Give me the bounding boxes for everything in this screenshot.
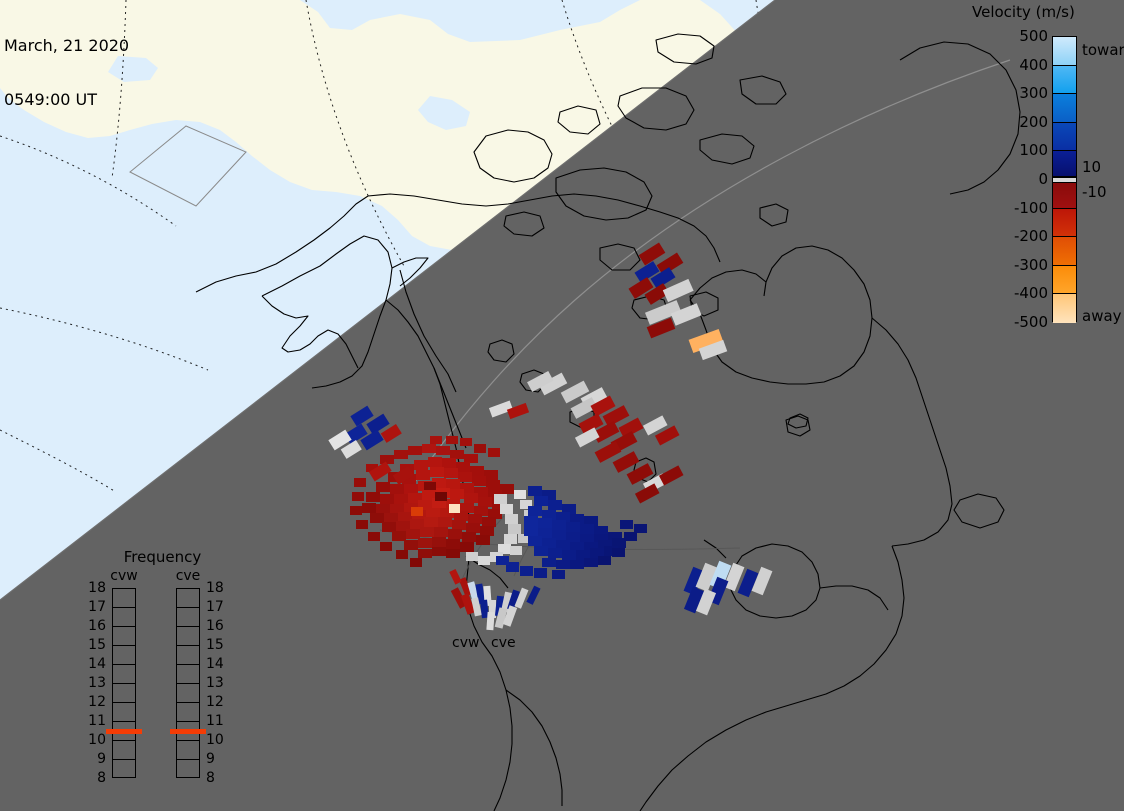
- colorbar-zero-upper-label: 10: [1082, 158, 1101, 176]
- frequency-tick-cvw-8: 8: [84, 770, 106, 786]
- colorbar-band-500-to-400: [1053, 37, 1076, 66]
- frequency-legend: Frequency cvw18171615141312111098cve1817…: [80, 548, 245, 780]
- frequency-segment-16: [113, 627, 135, 646]
- frequency-tick-cvw-17: 17: [84, 599, 106, 615]
- colorbar-gradient-bar: [1052, 36, 1077, 322]
- frequency-tick-cvw-10: 10: [84, 732, 106, 748]
- frequency-tick-cve-17: 17: [206, 599, 228, 615]
- colorbar-away-label: away: [1082, 307, 1122, 325]
- colorbar-tick--300: -300: [1014, 256, 1048, 274]
- colorbar-band--300-to--400: [1053, 266, 1076, 295]
- frequency-tick-cvw-13: 13: [84, 675, 106, 691]
- colorbar-tick--100: -100: [1014, 199, 1048, 217]
- timestamp-date: March, 21 2020: [4, 37, 129, 55]
- frequency-scale-cve: [176, 588, 200, 778]
- frequency-segment-14: [113, 665, 135, 684]
- frequency-segment-10: [177, 741, 199, 760]
- colorbar-band-300-to-200: [1053, 94, 1076, 123]
- colorbar-tick--500: -500: [1014, 313, 1048, 331]
- frequency-segment-12: [113, 703, 135, 722]
- frequency-tick-cve-14: 14: [206, 656, 228, 672]
- radar-site-label-cvw: cvw: [452, 635, 479, 651]
- colorbar-tick--400: -400: [1014, 284, 1048, 302]
- frequency-tick-cve-10: 10: [206, 732, 228, 748]
- frequency-tick-cve-11: 11: [206, 713, 228, 729]
- frequency-tick-cvw-14: 14: [84, 656, 106, 672]
- radar-site-label-cve: cve: [491, 635, 516, 651]
- frequency-segment-10: [113, 741, 135, 760]
- colorbar-band--400-to--500: [1053, 294, 1076, 323]
- velocity-colorbar: Velocity (m/s) 5004003002001000-100-200-…: [962, 0, 1124, 340]
- frequency-column-label-cve: cve: [168, 568, 208, 584]
- colorbar-tick--200: -200: [1014, 227, 1048, 245]
- superdarn-velocity-map: March, 21 2020 0549:00 UT Velocity (m/s)…: [0, 0, 1124, 811]
- frequency-segment-15: [177, 646, 199, 665]
- frequency-segment-17: [177, 608, 199, 627]
- frequency-marker-cve: [170, 729, 206, 734]
- frequency-tick-cvw-15: 15: [84, 637, 106, 653]
- frequency-segment-12: [177, 703, 199, 722]
- colorbar-zero-band: [1053, 177, 1076, 183]
- timestamp-time: 0549:00 UT: [4, 91, 129, 109]
- frequency-segment-9: [177, 760, 199, 779]
- frequency-tick-cve-12: 12: [206, 694, 228, 710]
- frequency-segment-15: [113, 646, 135, 665]
- colorbar-tick-200: 200: [1019, 113, 1048, 131]
- frequency-segment-13: [113, 684, 135, 703]
- frequency-tick-cvw-9: 9: [84, 751, 106, 767]
- frequency-tick-cve-15: 15: [206, 637, 228, 653]
- colorbar-zero-lower-label: -10: [1082, 183, 1107, 201]
- colorbar-band-400-to-300: [1053, 66, 1076, 95]
- colorbar-band-200-to-100: [1053, 123, 1076, 152]
- frequency-tick-cve-9: 9: [206, 751, 228, 767]
- frequency-segment-14: [177, 665, 199, 684]
- frequency-tick-cve-8: 8: [206, 770, 228, 786]
- colorbar-tick-100: 100: [1019, 141, 1048, 159]
- colorbar-tick-0: 0: [1038, 170, 1048, 188]
- colorbar-title: Velocity (m/s): [972, 3, 1124, 21]
- frequency-tick-cve-13: 13: [206, 675, 228, 691]
- colorbar-tick-300: 300: [1019, 84, 1048, 102]
- frequency-column-label-cvw: cvw: [104, 568, 144, 584]
- colorbar-band--100-to--200: [1053, 209, 1076, 238]
- colorbar-toward-label: toward: [1082, 41, 1124, 59]
- frequency-segment-9: [113, 760, 135, 779]
- frequency-legend-title: Frequency: [80, 548, 245, 566]
- frequency-tick-cvw-16: 16: [84, 618, 106, 634]
- colorbar-tick-400: 400: [1019, 56, 1048, 74]
- frequency-tick-cvw-18: 18: [84, 580, 106, 596]
- colorbar-band--200-to--300: [1053, 237, 1076, 266]
- frequency-tick-cvw-12: 12: [84, 694, 106, 710]
- frequency-segment-17: [113, 608, 135, 627]
- colorbar-band-100-to-10: [1053, 151, 1076, 177]
- frequency-tick-cvw-11: 11: [84, 713, 106, 729]
- frequency-tick-cve-18: 18: [206, 580, 228, 596]
- frequency-segment-18: [177, 589, 199, 608]
- frequency-marker-cvw: [106, 729, 142, 734]
- timestamp-label: March, 21 2020 0549:00 UT: [4, 1, 129, 145]
- colorbar-band--10-to--100: [1053, 183, 1076, 209]
- frequency-segment-13: [177, 684, 199, 703]
- colorbar-tick-500: 500: [1019, 27, 1048, 45]
- frequency-segment-16: [177, 627, 199, 646]
- frequency-tick-cve-16: 16: [206, 618, 228, 634]
- frequency-scale-cvw: [112, 588, 136, 778]
- frequency-segment-18: [113, 589, 135, 608]
